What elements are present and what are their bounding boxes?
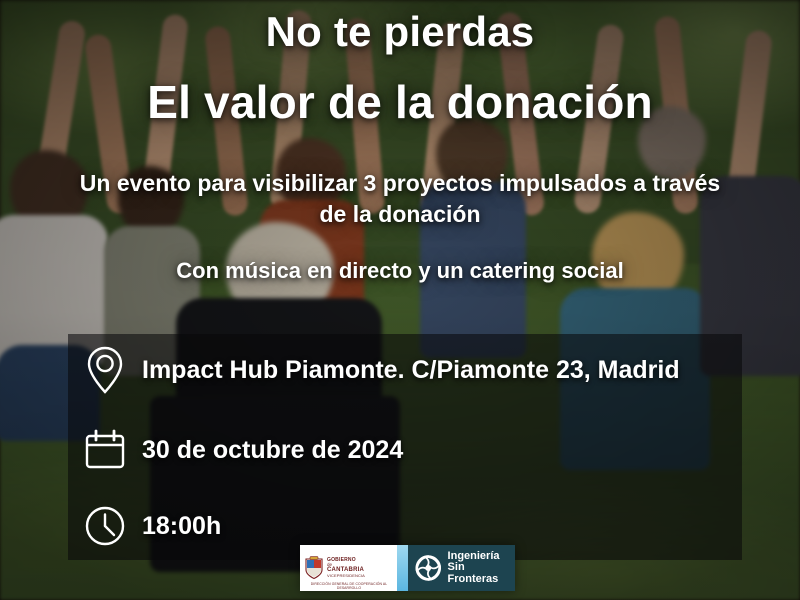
cantabria-line4: VICEPRESIDENCIA: [327, 574, 365, 578]
calendar-icon: [68, 429, 142, 471]
detail-row-date: 30 de octubre de 2024: [68, 418, 403, 482]
subtitle-group: Un evento para visibilizar 3 proyectos i…: [70, 168, 730, 286]
location-pin-icon: [68, 345, 142, 395]
page-title-line2: El valor de la donación: [0, 77, 800, 129]
isf-wordmark: Ingeniería Sin Fronteras: [448, 551, 515, 586]
cantabria-footer-text: DIRECCIÓN GENERAL DE COOPERACIÓN AL DESA…: [303, 582, 395, 591]
page-title-line1: No te pierdas: [0, 8, 800, 55]
clock-icon: [68, 504, 142, 548]
logo-ingenieria-sin-fronteras: Ingeniería Sin Fronteras: [408, 545, 515, 591]
event-details-list: Impact Hub Piamonte. C/Piamonte 23, Madr…: [68, 334, 742, 560]
cantabria-blue-bar: [397, 545, 408, 591]
isf-spiral-logo-icon: [414, 553, 443, 583]
subtitle-main: Un evento para visibilizar 3 proyectos i…: [70, 168, 730, 229]
cantabria-coat-of-arms-icon: [304, 556, 324, 580]
detail-date-text: 30 de octubre de 2024: [142, 436, 403, 465]
detail-row-time: 18:00h: [68, 494, 221, 558]
detail-location-text: Impact Hub Piamonte. C/Piamonte 23, Madr…: [142, 356, 680, 385]
event-poster: No te pierdas El valor de la donación Un…: [0, 0, 800, 600]
cantabria-wordmark: GOBIERNO de CANTABRIA VICEPRESIDENCIA: [327, 558, 365, 579]
detail-time-text: 18:00h: [142, 512, 221, 541]
detail-row-location: Impact Hub Piamonte. C/Piamonte 23, Madr…: [68, 338, 680, 402]
isf-line2: Sin Fronteras: [448, 562, 515, 585]
logo-gobierno-cantabria: GOBIERNO de CANTABRIA VICEPRESIDENCIA DI…: [300, 545, 408, 591]
headline-group: No te pierdas El valor de la donación: [0, 8, 800, 129]
subtitle-secondary: Con música en directo y un catering soci…: [70, 257, 730, 286]
sponsor-logo-strip: GOBIERNO de CANTABRIA VICEPRESIDENCIA DI…: [300, 545, 515, 591]
